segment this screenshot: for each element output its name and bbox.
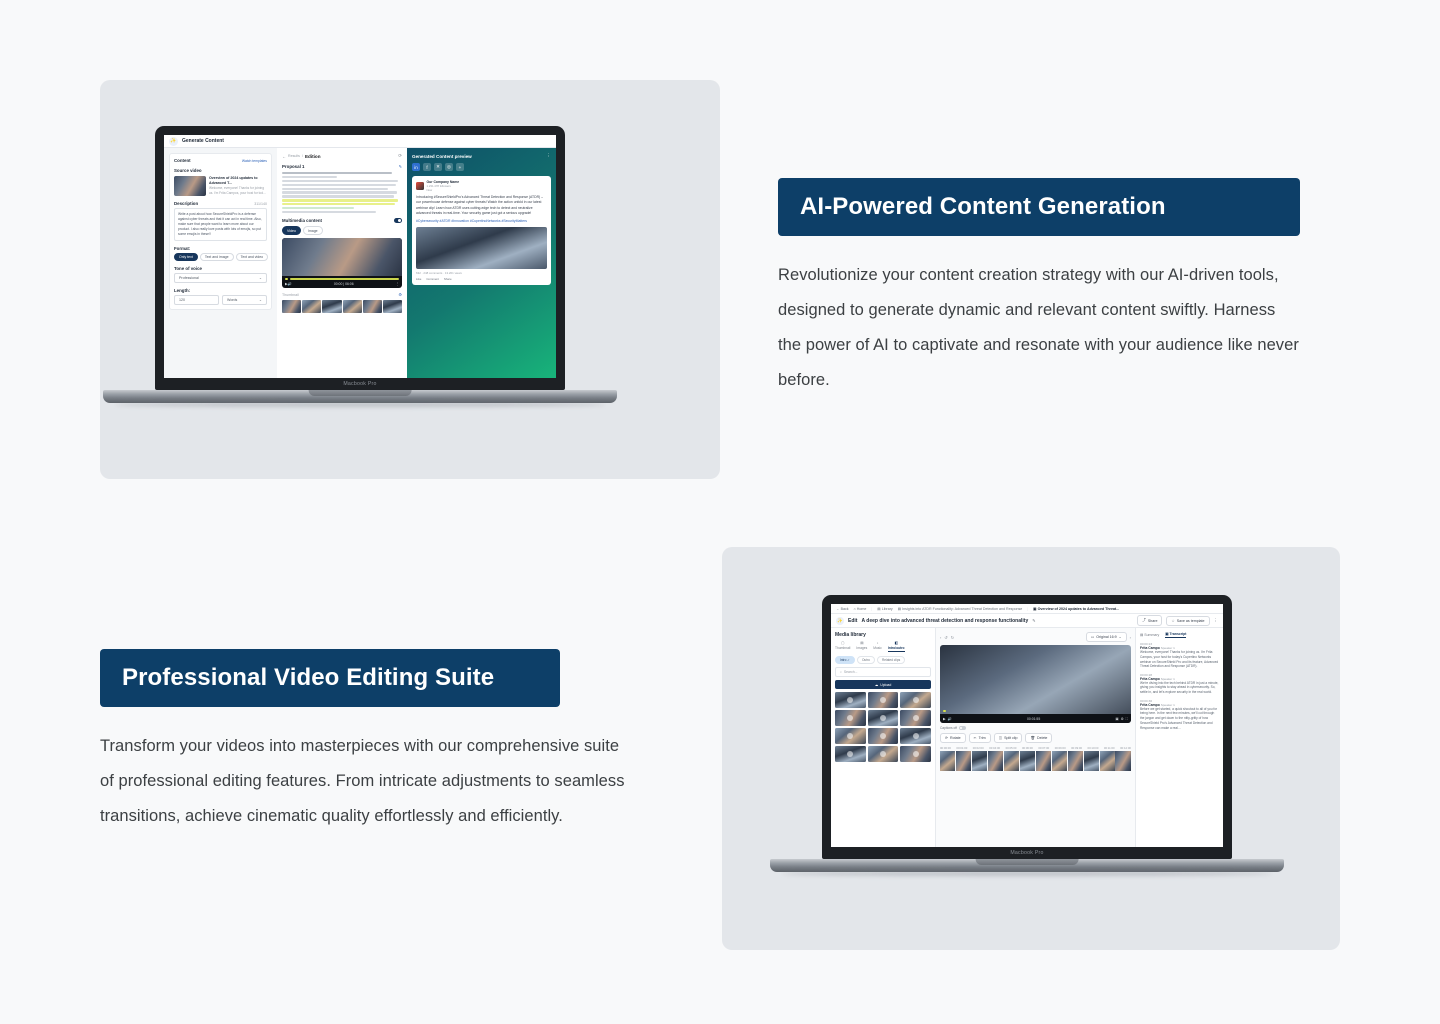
media-thumbnail-grid[interactable] bbox=[835, 692, 931, 762]
upload-button[interactable]: ☁ Upload bbox=[835, 680, 931, 689]
tab-transcript[interactable]: ▣ Transcript bbox=[1165, 632, 1186, 638]
format-option-only-text[interactable]: Only text bbox=[174, 253, 198, 262]
tone-select[interactable]: Professional ⌄ bbox=[174, 273, 267, 283]
post-action-comment[interactable]: Comment bbox=[426, 277, 439, 281]
timeline-tick: 00:02:00 bbox=[973, 746, 984, 750]
proposal-text-block bbox=[282, 172, 402, 213]
app-topbar: ✨ Generate Content bbox=[164, 135, 556, 148]
chip-outro[interactable]: Outro bbox=[857, 656, 875, 664]
feature-description: Transform your videos into masterpieces … bbox=[100, 729, 626, 834]
transcript-entry: 00:00:28 Frita Campo Speaker 1 We're div… bbox=[1140, 673, 1219, 695]
media-library-panel: Media library ▢Thumbnail ▤Images ♪Music … bbox=[831, 628, 936, 847]
media-tab-intro-outro[interactable]: ◧Intro/outro bbox=[888, 641, 905, 652]
transcript-entry: 00:00:36 Frita Campo Speaker 1 Before we… bbox=[1140, 699, 1219, 731]
feature-block-1: AI-Powered Content Generation Revolution… bbox=[778, 178, 1302, 398]
media-library-tabs[interactable]: ▢Thumbnail ▤Images ♪Music ◧Intro/outro bbox=[835, 641, 931, 652]
edition-panel: ← Results / Edition ⟳ Proposal 1 bbox=[277, 148, 407, 378]
post-hashtags: #Cybersecurity #ATDR #Innovation #Cupert… bbox=[416, 219, 547, 224]
breadcrumb-edition: Edition bbox=[305, 154, 321, 159]
length-unit-select[interactable]: Words ⌄ bbox=[222, 295, 267, 305]
timeline-tick: 00:12:00 bbox=[1120, 746, 1131, 750]
video-controls[interactable]: ▶ 🔊 00:01:55 ▣ ⚙ ⛶ bbox=[940, 714, 1131, 723]
star-icon: ☆ bbox=[1171, 619, 1174, 623]
watch-templates-link[interactable]: Watch templates bbox=[242, 159, 267, 163]
rotate-button[interactable]: ⟳Rotate bbox=[940, 733, 966, 743]
thumbnail-filmstrip[interactable] bbox=[282, 300, 402, 313]
more-vertical-icon[interactable]: ⋮ bbox=[1214, 618, 1219, 624]
images-icon: ▤ bbox=[860, 641, 863, 645]
feature-image-card-2: ← Back ⌂ Home | ▤ Library ▤ Insights int… bbox=[722, 547, 1340, 950]
social-post-preview: Our Company Name 1.231.478 followers Now… bbox=[412, 176, 551, 285]
breadcrumb-separator: / bbox=[302, 154, 303, 158]
upload-icon: ☁ bbox=[875, 683, 879, 687]
share-button[interactable]: ⤴Share bbox=[1137, 615, 1162, 626]
chevron-down-icon: ⌄ bbox=[1119, 635, 1122, 639]
feature-title-banner: Professional Video Editing Suite bbox=[100, 649, 560, 707]
timeline-filmstrip[interactable] bbox=[940, 751, 1131, 771]
chevron-down-icon: ⌄ bbox=[259, 276, 262, 280]
feature-description: Revolutionize your content creation stra… bbox=[778, 258, 1302, 398]
scissors-icon: ✂ bbox=[974, 736, 977, 740]
feature-title: Professional Video Editing Suite bbox=[122, 665, 494, 691]
timeline-tick: 00:07:00 bbox=[1038, 746, 1049, 750]
breadcrumb: ← Back ⌂ Home | ▤ Library ▤ Insights int… bbox=[831, 604, 1223, 614]
search-placeholder: Search... bbox=[844, 670, 858, 674]
source-video-title: Overview of 2024 updates to Advanced T..… bbox=[209, 176, 267, 185]
transcript-text: We're diving into the tech behind ATDR i… bbox=[1140, 681, 1219, 695]
format-label: Format: bbox=[174, 246, 267, 251]
laptop-base-shadow bbox=[115, 402, 605, 407]
laptop-brand-label: Macbook Pro bbox=[1010, 850, 1043, 856]
format-option-text-video[interactable]: Text and video bbox=[236, 253, 269, 262]
feature-block-2: Professional Video Editing Suite Transfo… bbox=[100, 649, 626, 834]
video-timecode: 00:01:55 bbox=[1027, 717, 1040, 721]
content-card: Content Watch templates Source video Ove… bbox=[169, 153, 272, 310]
video-player[interactable]: ▶ 🔊 00:00 | 06:06 ⋮ bbox=[282, 238, 402, 289]
length-label: Length: bbox=[174, 288, 267, 293]
multimedia-label: Multimedia content bbox=[282, 218, 322, 223]
settings-icon[interactable]: ⚙ bbox=[398, 292, 402, 297]
twitter-icon[interactable]: ✕ bbox=[434, 163, 442, 171]
feature-image-card-1: ✨ Generate Content Content Watch templat… bbox=[100, 80, 720, 479]
post-time: Now bbox=[427, 188, 460, 192]
undo-icon[interactable]: ↺ bbox=[944, 635, 947, 640]
laptop-lid: ✨ Generate Content Content Watch templat… bbox=[155, 126, 565, 390]
media-tab-images[interactable]: ▤Images bbox=[856, 641, 867, 652]
multimedia-toggle[interactable] bbox=[394, 218, 402, 223]
delete-button[interactable]: 🗑Delete bbox=[1025, 733, 1052, 743]
chevron-down-icon: ⌄ bbox=[259, 298, 262, 302]
chip-related-clips[interactable]: Related clips bbox=[877, 656, 905, 664]
timeline-tick: 00:06:00 bbox=[1022, 746, 1033, 750]
ratio-icon: ▭ bbox=[1091, 635, 1094, 639]
redo-icon[interactable]: ↻ bbox=[951, 635, 954, 640]
transcript-panel: ▤ Summary ▣ Transcript 00:00:23 Frita Ca… bbox=[1135, 628, 1223, 847]
add-icon[interactable]: + bbox=[456, 163, 464, 171]
media-tab-music[interactable]: ♪Music bbox=[873, 641, 882, 652]
transcript-text: Welcome, everyone! Thanks for joining us… bbox=[1140, 650, 1219, 669]
description-textarea[interactable]: Write a post about how SecureShieldPro i… bbox=[174, 208, 267, 241]
collapse-icon[interactable]: ‹ bbox=[940, 635, 941, 640]
split-icon: ◫ bbox=[999, 736, 1002, 740]
preview-panel: Generated Content preview ⋮ in f ✕ ◎ + bbox=[407, 148, 556, 378]
transcript-text: Before we get started, a quick shoutout … bbox=[1140, 707, 1219, 731]
back-arrow-icon[interactable]: ← bbox=[282, 154, 286, 159]
film-icon: ◧ bbox=[895, 641, 898, 645]
source-video-thumbnail[interactable] bbox=[174, 176, 206, 196]
breadcrumb-insights[interactable]: ▤ Insights into ATDR Functionality: Adva… bbox=[898, 607, 1023, 611]
split-clip-button[interactable]: ◫Split clip bbox=[994, 733, 1023, 743]
media-library-heading: Media library bbox=[835, 632, 931, 638]
source-video-description: Welcome, everyone! Thanks for joining us… bbox=[209, 186, 267, 195]
more-vertical-icon[interactable]: ⋮ bbox=[396, 282, 399, 286]
post-action-like[interactable]: Like bbox=[416, 277, 421, 281]
transcript-list[interactable]: 00:00:23 Frita Campo Speaker 1 Welcome, … bbox=[1140, 642, 1219, 731]
expand-icon[interactable]: › bbox=[1130, 635, 1131, 640]
timeline-tick: 00:05:00 bbox=[1006, 746, 1017, 750]
description-counter: 311/140 bbox=[254, 202, 267, 206]
laptop-screen-1: ✨ Generate Content Content Watch templat… bbox=[164, 135, 556, 378]
timeline-tick: 00:09:00 bbox=[1055, 746, 1066, 750]
timeline-tick: 00:10:00 bbox=[1088, 746, 1099, 750]
video-editor-app: ← Back ⌂ Home | ▤ Library ▤ Insights int… bbox=[831, 604, 1223, 847]
content-form-panel: Content Watch templates Source video Ove… bbox=[164, 148, 277, 378]
feature-title-banner: AI-Powered Content Generation bbox=[778, 178, 1300, 236]
share-icon: ⤴ bbox=[1142, 618, 1146, 623]
tone-label: Tone of voice bbox=[174, 266, 267, 271]
format-option-text-image[interactable]: Text and image bbox=[200, 253, 234, 262]
page-root: ✨ Generate Content Content Watch templat… bbox=[0, 0, 1440, 1024]
timeline-tick: 00:11:00 bbox=[1104, 746, 1115, 750]
search-input[interactable]: ⌕ Search... bbox=[835, 667, 931, 677]
description-label: Description bbox=[174, 201, 198, 206]
social-network-selector[interactable]: in f ✕ ◎ + bbox=[412, 163, 551, 171]
document-titlebar: ✨ Edit A deep dive into advanced threat … bbox=[831, 614, 1223, 628]
timeline-ruler: 00:00:00 00:01:00 00:02:00 00:04:00 00:0… bbox=[940, 746, 1131, 750]
laptop-lid: ← Back ⌂ Home | ▤ Library ▤ Insights int… bbox=[822, 595, 1232, 859]
edit-pencil-icon[interactable]: ✎ bbox=[399, 164, 402, 169]
player-time: 00:00 | 06:06 bbox=[292, 282, 396, 286]
sparkle-icon: ✨ bbox=[169, 137, 178, 146]
transcript-speaker-name: Frita Campo bbox=[1140, 703, 1160, 707]
content-heading: Content bbox=[174, 158, 191, 163]
transcript-entry: 00:00:23 Frita Campo Speaker 1 Welcome, … bbox=[1140, 642, 1219, 669]
preview-title: Generated Content preview bbox=[412, 154, 472, 159]
feature-title: AI-Powered Content Generation bbox=[800, 194, 1166, 220]
laptop-brand-label: Macbook Pro bbox=[343, 381, 376, 387]
more-vertical-icon[interactable]: ⋮ bbox=[547, 153, 552, 159]
volume-icon[interactable]: 🔊 bbox=[948, 717, 952, 721]
post-body: Introducing #SecureShieldPro's Advanced … bbox=[416, 195, 547, 216]
proposal-label: Proposal 1 bbox=[282, 164, 304, 169]
laptop-base-shadow bbox=[782, 871, 1272, 876]
laptop-bezel-chin: Macbook Pro bbox=[164, 378, 556, 390]
timeline-tick: 00:00:00 bbox=[940, 746, 951, 750]
preview-video[interactable]: ▶ 🔊 00:01:55 ▣ ⚙ ⛶ bbox=[940, 645, 1131, 723]
length-input[interactable]: 120 bbox=[174, 295, 219, 305]
length-value: 120 bbox=[179, 298, 185, 302]
media-tab-thumbnail[interactable]: ▢Thumbnail bbox=[835, 641, 850, 652]
breadcrumb-results[interactable]: Results bbox=[288, 154, 300, 158]
settings-icon[interactable]: ⚙ bbox=[1121, 717, 1124, 721]
avatar bbox=[416, 182, 424, 190]
editing-toolbar[interactable]: ⟳Rotate ✂Trim ◫Split clip 🗑Delete bbox=[940, 733, 1131, 743]
fullscreen-icon[interactable]: ⛶ bbox=[1126, 717, 1128, 721]
breadcrumb-library[interactable]: ▤ Library bbox=[877, 607, 892, 611]
captions-toggle[interactable] bbox=[959, 726, 966, 730]
thumbnail-icon: ▢ bbox=[841, 641, 844, 645]
edit-pencil-icon[interactable]: ✎ bbox=[1032, 618, 1035, 623]
breadcrumb-back[interactable]: ← Back bbox=[836, 607, 849, 611]
trash-icon: 🗑 bbox=[1030, 736, 1035, 740]
transcript-speaker-role: Speaker 1 bbox=[1161, 703, 1175, 707]
laptop-bezel-chin: Macbook Pro bbox=[831, 847, 1223, 859]
rotate-icon: ⟳ bbox=[945, 736, 948, 740]
source-video-label: Source video bbox=[174, 168, 267, 173]
post-stats: 632 · 248 comments · 13.201 views bbox=[416, 271, 547, 275]
timeline-tick: 00:01:00 bbox=[956, 746, 967, 750]
instagram-icon[interactable]: ◎ bbox=[445, 163, 453, 171]
aspect-ratio-select[interactable]: ▭ Original 16:9 ⌄ bbox=[1086, 632, 1127, 642]
app-title: Generate Content bbox=[182, 138, 224, 144]
post-action-share[interactable]: Share bbox=[444, 277, 452, 281]
trim-button[interactable]: ✂Trim bbox=[969, 733, 991, 743]
music-icon: ♪ bbox=[877, 641, 879, 645]
laptop-screen-2: ← Back ⌂ Home | ▤ Library ▤ Insights int… bbox=[831, 604, 1223, 847]
sparkle-icon: ✨ bbox=[836, 617, 844, 625]
search-icon: ⌕ bbox=[840, 670, 842, 674]
media-tab-image[interactable]: Image bbox=[303, 226, 323, 235]
save-as-template-button[interactable]: ☆Save as template bbox=[1166, 616, 1209, 626]
playhead-handle[interactable] bbox=[943, 710, 946, 713]
refresh-icon[interactable]: ⟳ bbox=[398, 153, 402, 159]
breadcrumb-home[interactable]: ⌂ Home bbox=[854, 607, 867, 611]
length-unit-value: Words bbox=[227, 298, 237, 302]
facebook-icon[interactable]: f bbox=[423, 163, 431, 171]
linkedin-icon[interactable]: in bbox=[412, 163, 420, 171]
video-editor-canvas: ‹ ↺ ↻ ▭ Original 16:9 ⌄ bbox=[936, 628, 1135, 847]
tab-summary[interactable]: ▤ Summary bbox=[1140, 633, 1159, 637]
timeline-tick: 00:09:00 bbox=[1071, 746, 1082, 750]
breadcrumb-current[interactable]: ▣ Overview of 2024 updates to Advanced T… bbox=[1033, 607, 1119, 611]
captions-icon[interactable]: ▣ bbox=[1115, 717, 1118, 721]
captions-label: Captions off bbox=[940, 726, 957, 730]
content-generation-app: ✨ Generate Content Content Watch templat… bbox=[164, 135, 556, 378]
chip-intro[interactable]: Intro ✓ bbox=[835, 656, 855, 664]
timeline-tick: 00:04:00 bbox=[989, 746, 1000, 750]
document-title: A deep dive into advanced threat detecti… bbox=[861, 618, 1028, 624]
media-tab-video[interactable]: Video bbox=[282, 226, 301, 235]
thumbnail-label: Thumbnail bbox=[282, 293, 299, 297]
tone-value: Professional bbox=[179, 276, 199, 280]
edit-label[interactable]: Edit bbox=[848, 618, 857, 624]
play-icon[interactable]: ▶ bbox=[943, 717, 946, 721]
